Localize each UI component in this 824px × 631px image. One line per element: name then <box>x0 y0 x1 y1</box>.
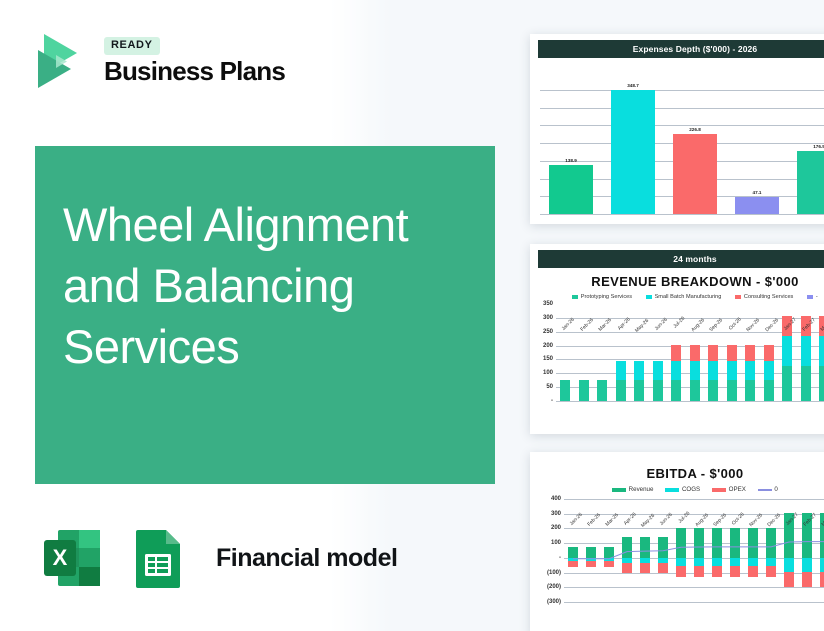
bar-column-8 <box>690 304 700 401</box>
bar-value-label-2: 348.7 <box>627 83 639 88</box>
chart-legend-ebitda: RevenueCOGSOPEX0 <box>530 486 824 493</box>
bar-value-label-1: 138.9 <box>565 158 577 163</box>
segment-small-batch-manufacturing <box>708 361 718 380</box>
chart-legend-revenue: Prototyping ServicesSmall Batch Manufact… <box>530 294 824 300</box>
segment-prototyping-services <box>782 366 792 401</box>
segment-prototyping-services <box>634 380 644 401</box>
svg-text:X: X <box>53 545 68 570</box>
segment-prototyping-services <box>801 366 811 401</box>
y-axis-tick-3: 200 <box>543 343 553 349</box>
legend-label-2: Small Batch Manufacturing <box>655 294 722 300</box>
legend-item-2: Small Batch Manufacturing <box>646 294 721 300</box>
segment-prototyping-services <box>690 380 700 401</box>
y-axis-tick-5: 100 <box>543 370 553 376</box>
legend-swatch <box>646 295 652 299</box>
chart-header-revenue: 24 months <box>538 250 824 268</box>
bar-column-12 <box>764 304 774 401</box>
gridline <box>540 125 824 126</box>
legend-item-4: 0 <box>758 486 778 493</box>
gridline <box>540 90 824 91</box>
y-axis-tick-4: - <box>559 555 561 561</box>
legend-label-4: 0 <box>774 486 777 493</box>
legend-swatch <box>665 488 679 492</box>
y-axis-tick-5: (100) <box>547 570 561 576</box>
segment-consulting-services <box>690 345 700 361</box>
segment-small-batch-manufacturing <box>801 336 811 365</box>
expenses-plot-area: 138.9348.7226.847.1176.5 <box>540 72 824 214</box>
legend-item-3: OPEX <box>712 486 746 493</box>
brand-logo[interactable]: READY Business Plans <box>30 28 285 94</box>
segment-small-batch-manufacturing <box>653 361 663 380</box>
hero-panel: Wheel Alignment and Balancing Services <box>35 146 495 484</box>
y-axis-tick-0: 400 <box>551 496 561 502</box>
segment-small-batch-manufacturing <box>690 361 700 380</box>
segment-small-batch-manufacturing <box>764 361 774 380</box>
segment-small-batch-manufacturing <box>634 361 644 380</box>
segment-prototyping-services <box>727 380 737 401</box>
brand-name: Business Plans <box>104 58 285 85</box>
y-axis-tick-6: (200) <box>547 584 561 590</box>
y-axis-tick-2: 250 <box>543 329 553 335</box>
axis-line <box>540 214 824 215</box>
segment-prototyping-services <box>653 380 663 401</box>
segment-consulting-services <box>671 345 681 361</box>
segment-consulting-services <box>708 345 718 361</box>
legend-item-1: Prototyping Services <box>572 294 632 300</box>
legend-label-3: Consulting Services <box>744 294 793 300</box>
segment-prototyping-services <box>708 380 718 401</box>
segment-prototyping-services <box>764 380 774 401</box>
legend-label-1: Prototyping Services <box>581 294 632 300</box>
page-root: READY Business Plans Wheel Alignment and… <box>0 0 824 631</box>
chart-header-expenses: Expenses Depth ($'000) - 2026 <box>538 40 824 58</box>
legend-item-2: COGS <box>665 486 700 493</box>
revenue-plot-area: 35030025020015010050-Jan-26Feb-26Mar-26A… <box>556 304 824 401</box>
segment-prototyping-services <box>671 380 681 401</box>
segment-prototyping-services <box>579 380 589 401</box>
bar-5 <box>797 151 824 214</box>
segment-small-batch-manufacturing <box>819 336 824 365</box>
y-axis-tick-3: 100 <box>551 540 561 546</box>
segment-consulting-services <box>764 345 774 361</box>
legend-swatch <box>735 295 741 299</box>
bar-column-2 <box>579 304 589 401</box>
bar-value-label-5: 176.5 <box>813 144 824 149</box>
footer-label: Financial model <box>216 544 397 573</box>
bar-2 <box>611 90 656 214</box>
gridline <box>564 602 824 603</box>
bar-column-5 <box>634 304 644 401</box>
segment-prototyping-services <box>616 380 626 401</box>
footer-row: X Financial model <box>36 522 397 594</box>
chart-title-revenue: REVENUE BREAKDOWN - $'000 <box>530 274 824 289</box>
chart-title-ebitda: EBITDA - $'000 <box>530 466 824 481</box>
bar-column-14 <box>801 304 811 401</box>
y-axis-tick-0: 350 <box>543 301 553 307</box>
gridline <box>540 108 824 109</box>
y-axis-tick-1: 300 <box>551 511 561 517</box>
segment-small-batch-manufacturing <box>782 336 792 365</box>
legend-item-3: Consulting Services <box>735 294 793 300</box>
segment-small-batch-manufacturing <box>671 361 681 380</box>
y-axis-tick-7: - <box>551 398 553 404</box>
legend-line-swatch <box>758 489 772 491</box>
segment-small-batch-manufacturing <box>745 361 755 380</box>
y-axis-tick-2: 200 <box>551 525 561 531</box>
bar-3 <box>673 134 718 215</box>
bar-4 <box>735 197 780 214</box>
segment-prototyping-services <box>597 380 607 401</box>
play-triangles-logo <box>30 28 92 94</box>
bar-value-label-3: 226.8 <box>689 127 701 132</box>
excel-icon[interactable]: X <box>36 522 108 594</box>
bar-value-label-4: 47.1 <box>753 190 762 195</box>
chart-card-expenses[interactable]: Expenses Depth ($'000) - 2026 138.9348.7… <box>530 34 824 224</box>
ebitda-plot-area: 400300200100-(100)(200)(300)Jan-26Feb-26… <box>564 499 824 602</box>
segment-small-batch-manufacturing <box>727 361 737 380</box>
y-axis-tick-6: 50 <box>546 384 553 390</box>
segment-prototyping-services <box>819 366 824 401</box>
legend-label-1: Revenue <box>629 486 654 493</box>
page-title: Wheel Alignment and Balancing Services <box>63 194 483 377</box>
legend-label-2: COGS <box>682 486 700 493</box>
legend-swatch <box>572 295 578 299</box>
ready-badge: READY <box>104 37 160 55</box>
bar-column-15 <box>819 304 824 401</box>
segment-prototyping-services <box>745 380 755 401</box>
segment-consulting-services <box>727 345 737 361</box>
legend-item-1: Revenue <box>612 486 653 493</box>
segment-small-batch-manufacturing <box>616 361 626 380</box>
segment-prototyping-services <box>560 380 570 401</box>
legend-item-4: - <box>807 294 817 300</box>
bar-1 <box>549 165 594 214</box>
chart-card-ebitda[interactable]: EBITDA - $'000 RevenueCOGSOPEX0 40030020… <box>530 452 824 631</box>
legend-swatch <box>712 488 726 492</box>
chart-card-revenue[interactable]: 24 months REVENUE BREAKDOWN - $'000 Prot… <box>530 244 824 434</box>
segment-consulting-services <box>745 345 755 361</box>
legend-label-4: - <box>816 294 818 300</box>
y-axis-tick-4: 150 <box>543 356 553 362</box>
gridline <box>556 401 824 402</box>
legend-swatch <box>612 488 626 492</box>
y-axis-tick-7: (300) <box>547 599 561 605</box>
google-sheets-icon[interactable] <box>122 522 194 594</box>
legend-swatch <box>807 295 813 299</box>
y-axis-tick-1: 300 <box>543 315 553 321</box>
legend-label-3: OPEX <box>729 486 746 493</box>
line-series-0 <box>564 499 824 602</box>
